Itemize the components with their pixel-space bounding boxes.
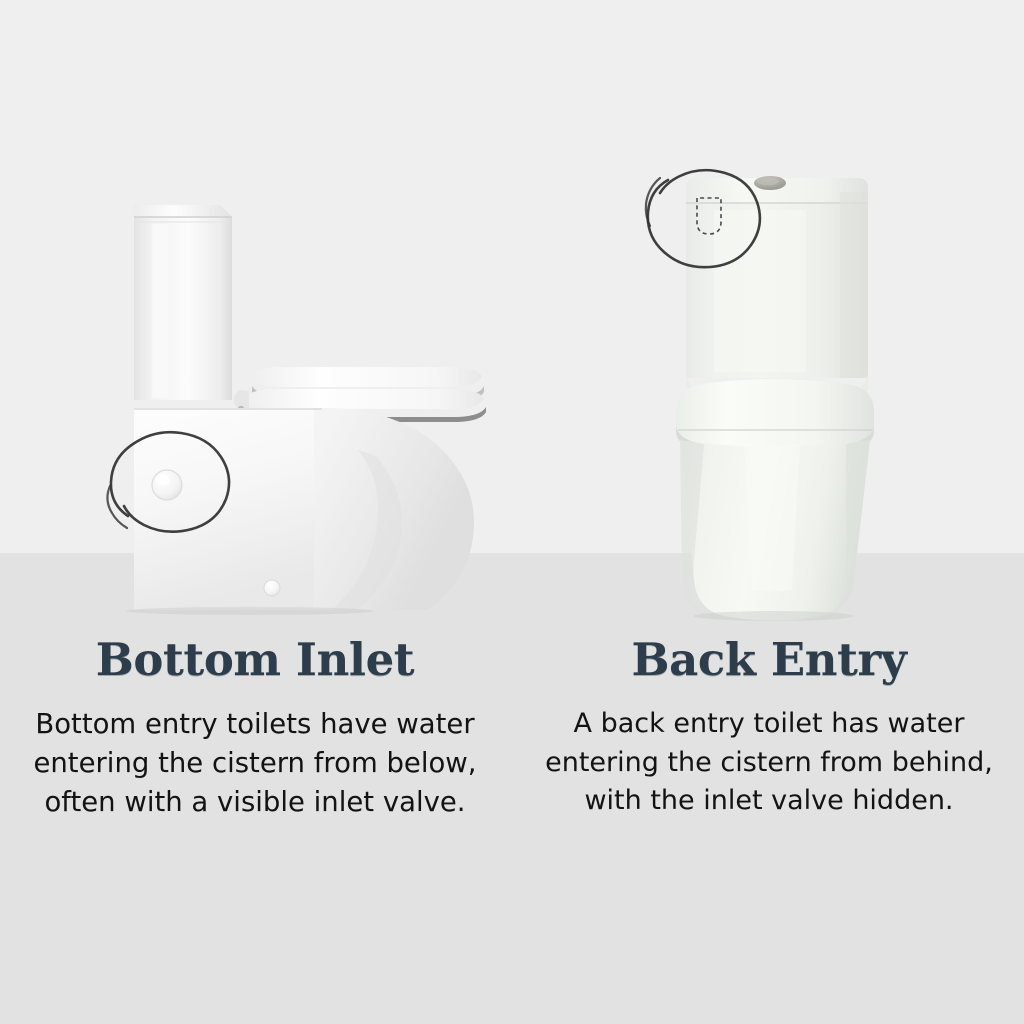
body-back-entry: A back entry toilet has water entering t… [540, 705, 998, 820]
inlet-valve-button [152, 470, 182, 500]
heading-bottom-inlet: Bottom Inlet [26, 636, 484, 683]
toilet-pan-left [126, 408, 474, 615]
column-back-entry: Back Entry A back entry toilet has water… [512, 636, 1024, 822]
illustration-bottom-inlet-toilet [107, 205, 486, 615]
column-bottom-inlet: Bottom Inlet Bottom entry toilets have w… [0, 636, 512, 822]
lower-bolt-cap [264, 580, 280, 596]
caption-row: Bottom Inlet Bottom entry toilets have w… [0, 636, 1024, 822]
illustration-back-entry-toilet [646, 170, 874, 621]
heading-back-entry: Back Entry [540, 636, 998, 683]
infographic-root: Bottom Inlet Bottom entry toilets have w… [0, 0, 1024, 1024]
flush-button-right [754, 176, 786, 190]
body-bottom-inlet: Bottom entry toilets have water entering… [26, 705, 484, 822]
illustration-stage [0, 0, 1024, 640]
toilet-cistern-right [686, 178, 868, 412]
toilet-cistern-left [134, 205, 232, 400]
toilet-pan-right [680, 440, 870, 621]
